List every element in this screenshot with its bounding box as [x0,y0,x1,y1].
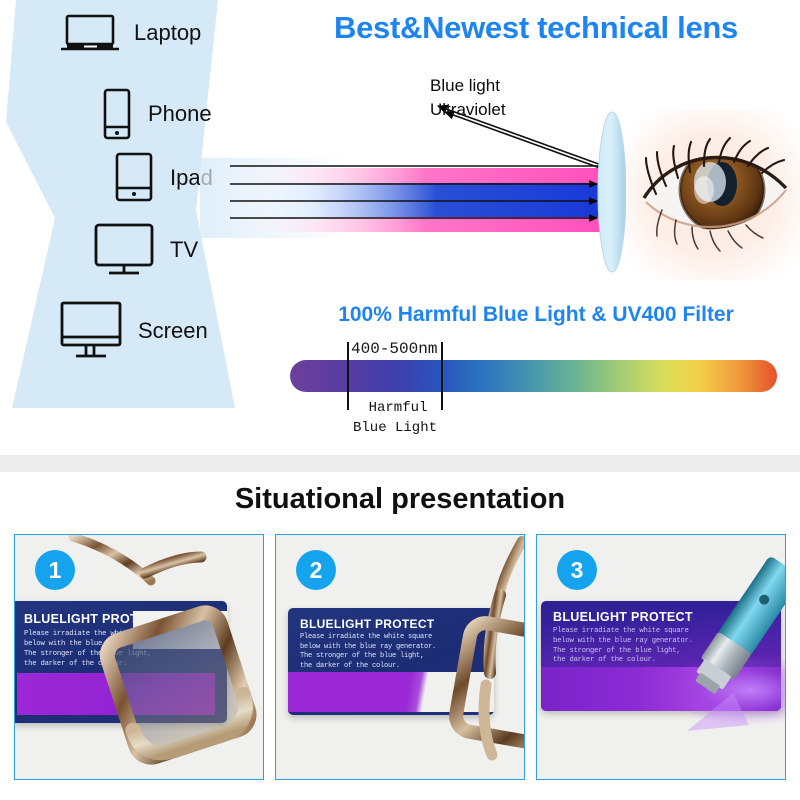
spectrum-title: 100% Harmful Blue Light & UV400 Filter [272,303,800,327]
harmful-line-1: Harmful [350,398,446,418]
device-label: Laptop [134,20,201,46]
photo-card-strip: 1 BLUELIGHT PROTECT Please irradiate the… [14,534,786,782]
situational-presentation-section: Situational presentation 1 BLUELIGHT PRO… [0,472,800,800]
device-label: Screen [138,318,208,344]
laptop-icon [60,12,120,54]
tablet-icon [112,152,156,204]
top-infographic-section: Laptop Phone Ipad TV [0,0,800,455]
photo-card-1[interactable]: 1 BLUELIGHT PROTECT Please irradiate the… [14,534,264,780]
tv-icon [92,222,156,278]
spectrum-marker-400nm [347,342,349,410]
card-number-badge: 3 [557,550,597,590]
human-eye-photo [626,110,800,280]
blue-light-label: Blue light [430,76,500,96]
monitor-icon [58,300,124,362]
photo-card-3[interactable]: 3 BLUELIGHT PROTECT Please irradiate the… [536,534,786,780]
harmful-blue-light-label: Harmful Blue Light [350,398,446,438]
page-title: Best&Newest technical lens [272,10,800,46]
section-divider [0,455,800,472]
section-title: Situational presentation [0,483,800,516]
spectrum-chart: 400-500nm Harmful Blue Light [290,336,780,448]
card-number-badge: 1 [35,550,75,590]
card-number-badge: 2 [296,550,336,590]
phone-icon [100,88,134,140]
visible-spectrum-bar [290,360,777,392]
harmful-line-2: Blue Light [344,418,446,438]
wavelength-range-label: 400-500nm [351,340,437,358]
device-row-screen: Screen [58,300,208,362]
ultraviolet-label: Ultraviolet [430,100,506,120]
eyeglass-lens [598,112,626,272]
photo-card-2[interactable]: 2 BLUELIGHT PROTECT Please irradiate the… [275,534,525,780]
device-row-laptop: Laptop [60,12,201,54]
